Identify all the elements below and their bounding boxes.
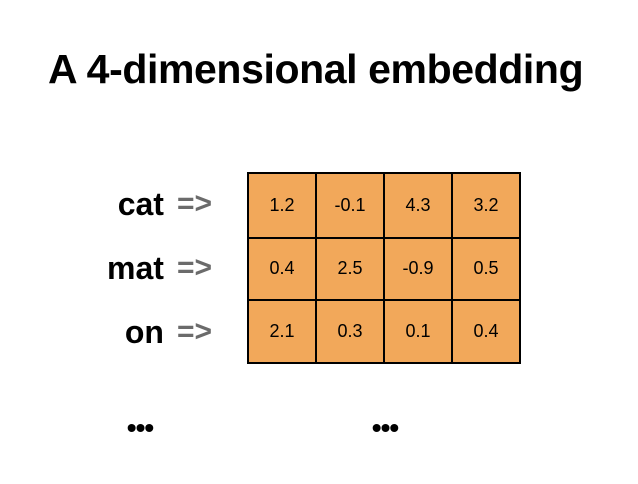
slide: A 4-dimensional embedding cat => mat => … bbox=[0, 0, 638, 484]
word-row-cat: cat => bbox=[46, 172, 242, 236]
matrix-cell: 0.4 bbox=[249, 239, 315, 300]
arrow-icon-on: => bbox=[177, 317, 212, 347]
table-row: 1.2 -0.1 4.3 3.2 bbox=[249, 174, 519, 237]
page-title: A 4-dimensional embedding bbox=[48, 48, 608, 91]
matrix-cell: 2.1 bbox=[249, 301, 315, 362]
matrix-cell: 0.4 bbox=[451, 301, 519, 362]
matrix-cell: 4.3 bbox=[383, 174, 451, 237]
matrix-cell: 0.3 bbox=[315, 301, 383, 362]
word-label-on: on bbox=[125, 316, 164, 348]
matrix-cell: 2.5 bbox=[315, 239, 383, 300]
matrix-cell: 3.2 bbox=[451, 174, 519, 237]
table-row: 2.1 0.3 0.1 0.4 bbox=[249, 299, 519, 362]
ellipsis-words: ••• bbox=[127, 414, 153, 442]
matrix-cell: 0.5 bbox=[451, 239, 519, 300]
matrix-cell: -0.1 bbox=[315, 174, 383, 237]
word-row-on: on => bbox=[46, 300, 242, 364]
word-label-mat: mat bbox=[107, 252, 164, 284]
matrix-cell: 1.2 bbox=[249, 174, 315, 237]
word-label-cat: cat bbox=[118, 188, 164, 220]
table-row: 0.4 2.5 -0.9 0.5 bbox=[249, 237, 519, 300]
arrow-icon-mat: => bbox=[177, 253, 212, 283]
word-label-column: cat => mat => on => bbox=[46, 172, 242, 364]
ellipsis-matrix: ••• bbox=[372, 414, 398, 442]
matrix-cell: -0.9 bbox=[383, 239, 451, 300]
embedding-matrix: 1.2 -0.1 4.3 3.2 0.4 2.5 -0.9 0.5 2.1 0.… bbox=[247, 172, 521, 364]
arrow-icon-cat: => bbox=[177, 189, 212, 219]
matrix-cell: 0.1 bbox=[383, 301, 451, 362]
word-row-mat: mat => bbox=[46, 236, 242, 300]
